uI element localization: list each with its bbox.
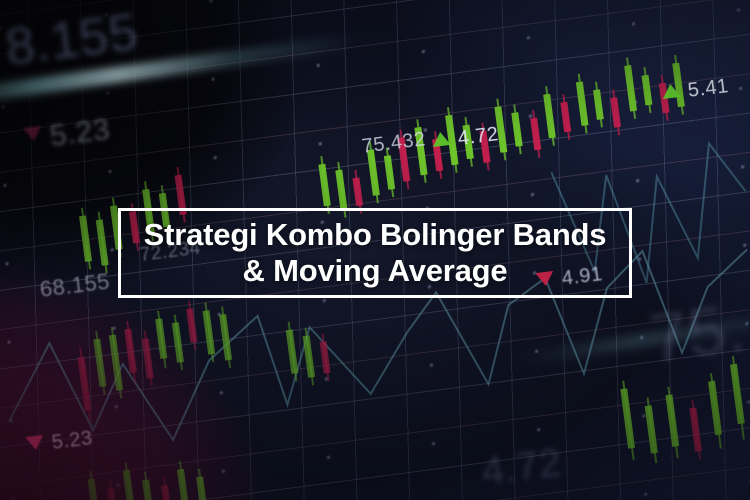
page-title: Strategi Kombo Bolinger Bands & Moving A… [134, 217, 617, 290]
arrow-up-green-icon [431, 131, 451, 147]
title-line-1: Strategi Kombo Bolinger Bands [144, 217, 607, 253]
arrow-down-pink-icon [25, 435, 45, 451]
title-line-2: & Moving Average [144, 253, 607, 289]
arrow-down-pink-icon [23, 126, 43, 142]
price-label-75-large: 75. [645, 289, 750, 378]
banner-image: 8.1555.2368.1555.2372.23475.4324.725.414… [0, 0, 750, 500]
title-frame: Strategi Kombo Bolinger Bands & Moving A… [118, 208, 632, 298]
arrow-up-green-icon [661, 83, 681, 99]
